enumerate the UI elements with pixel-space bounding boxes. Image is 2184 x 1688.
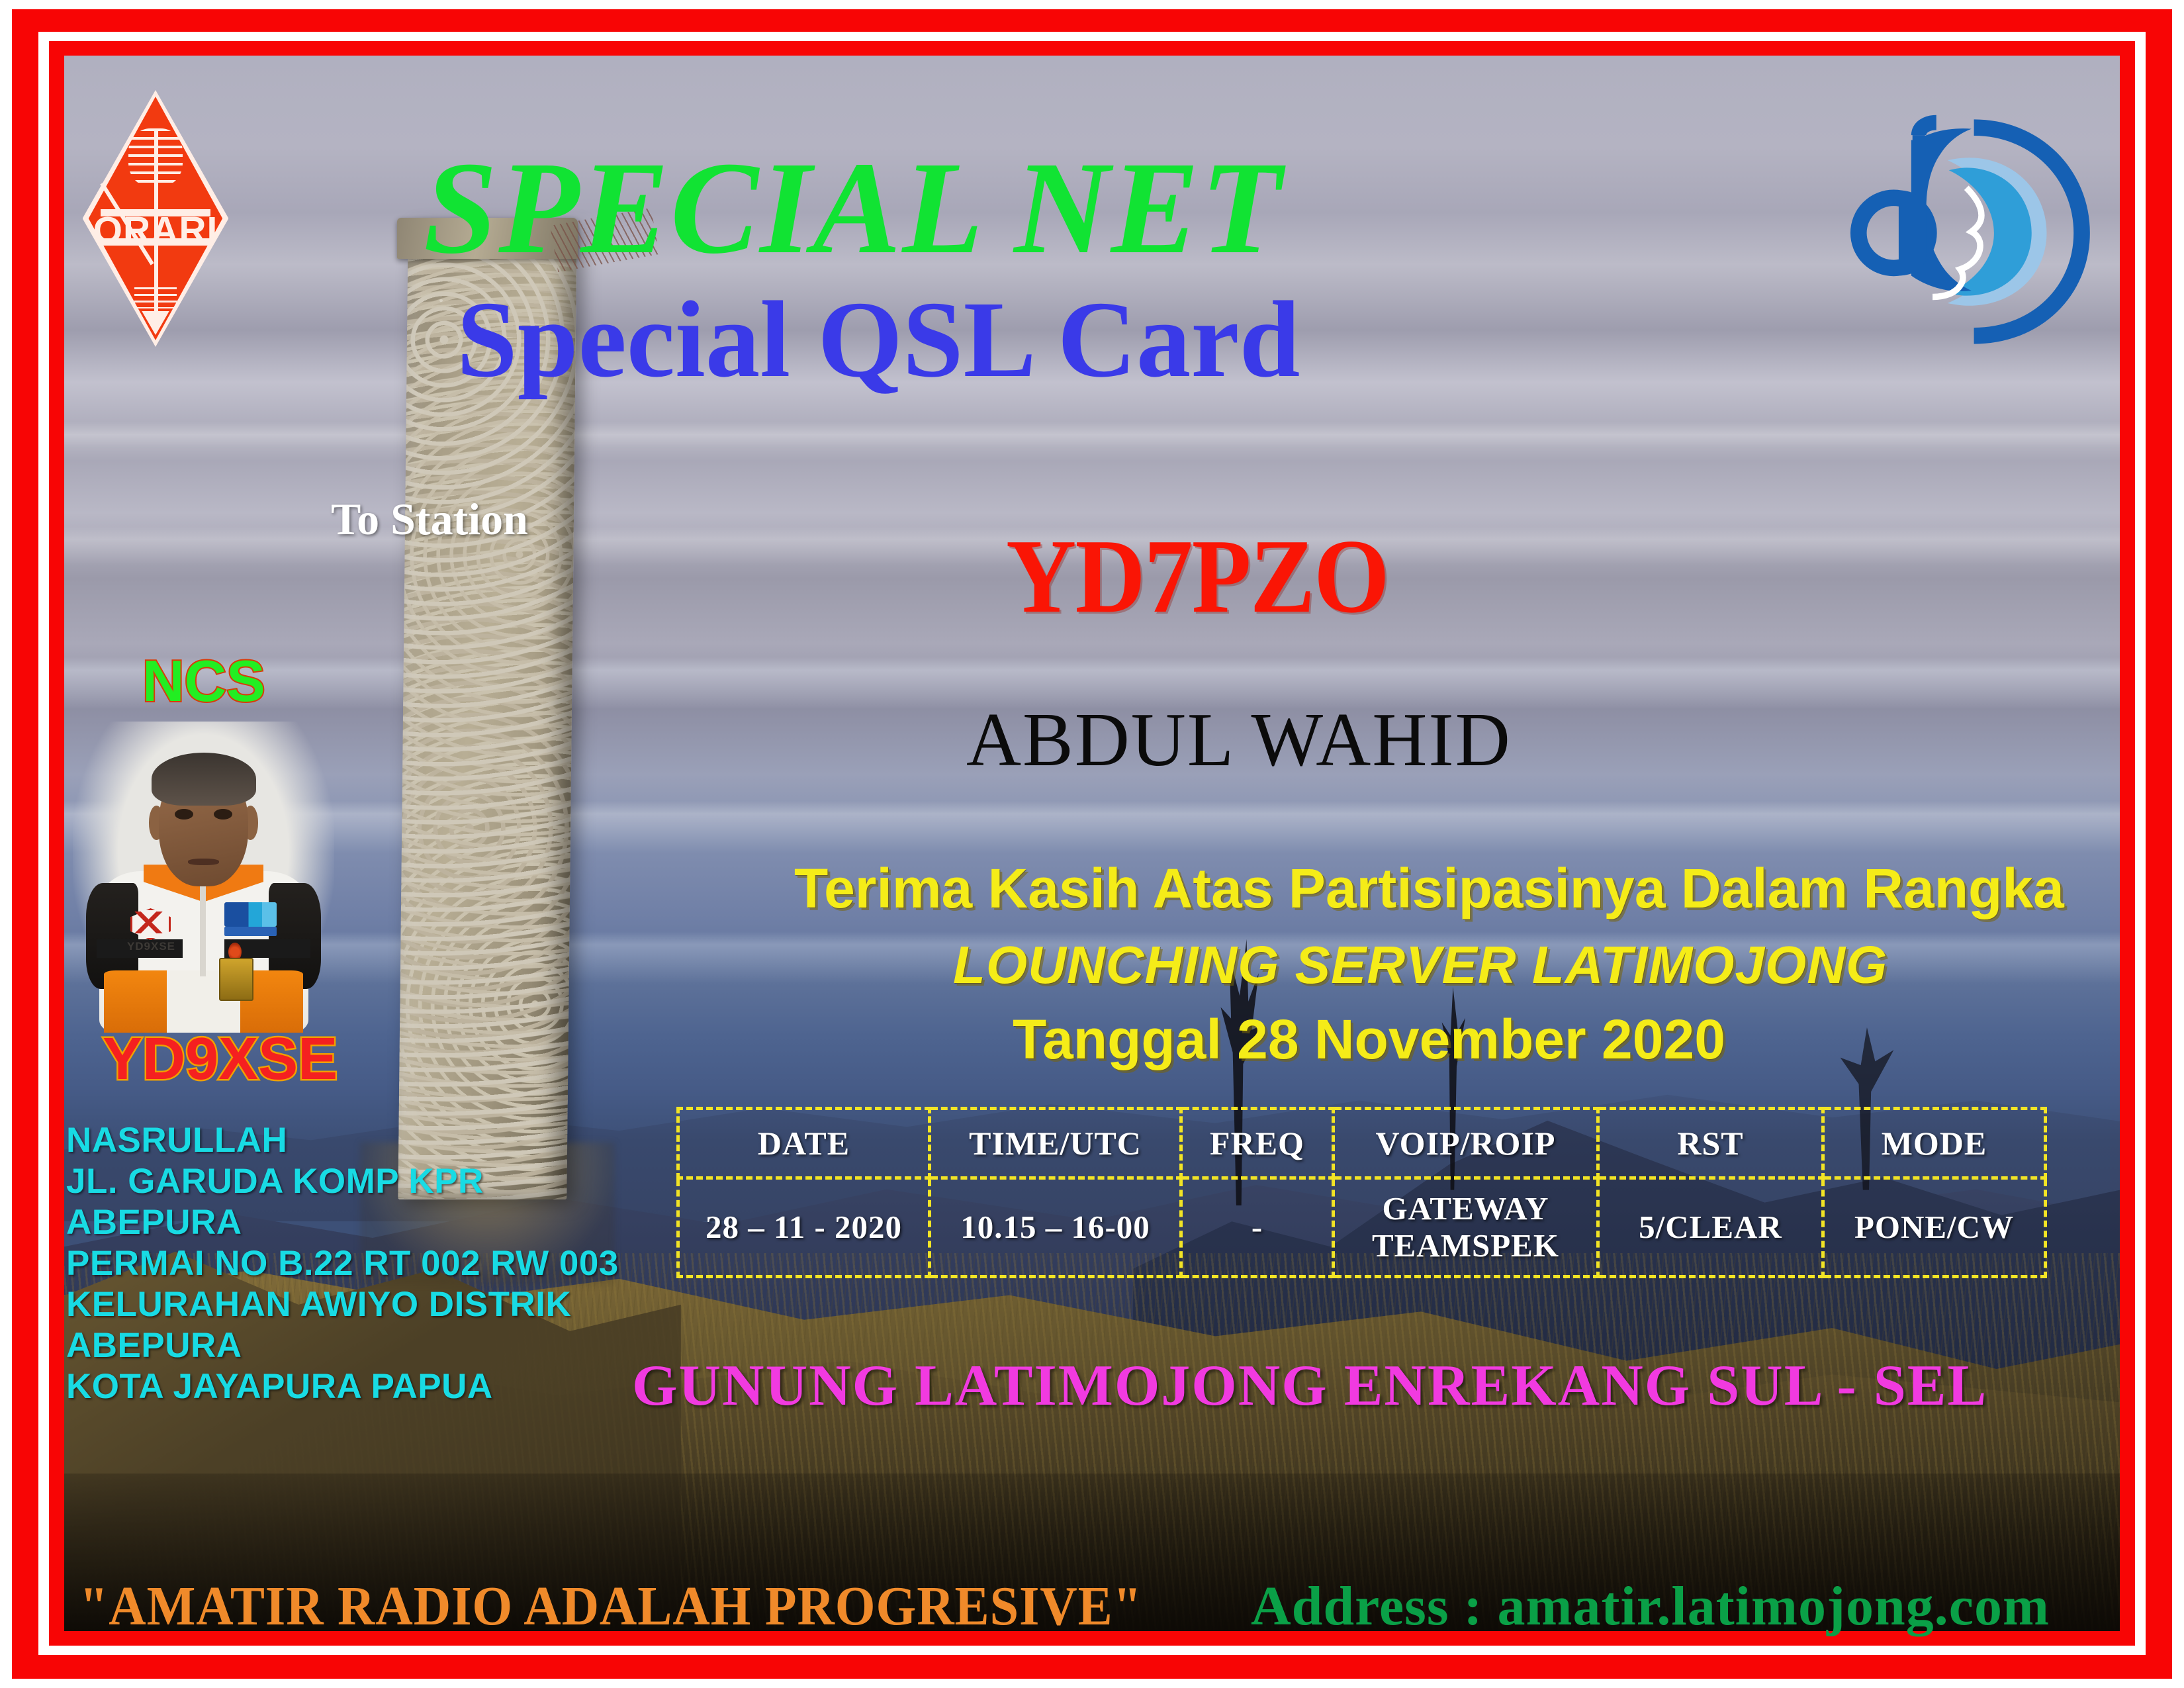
table-header-row: DATE TIME/UTC FREQ VOIP/ROIP RST MODE	[678, 1109, 2046, 1178]
operator-hair	[152, 753, 256, 806]
id-badge	[219, 958, 253, 1001]
column-header-rst: RST	[1598, 1109, 1823, 1178]
to-station-label: To Station	[331, 496, 528, 541]
qsl-card: ORARI SPECIAL NET Special QSL Card To St…	[0, 0, 2184, 1688]
column-header-time: TIME/UTC	[930, 1109, 1181, 1178]
cell-mode: PONE/CW	[1823, 1178, 2046, 1277]
cell-date: 28 – 11 - 2020	[678, 1178, 930, 1277]
orari-coil-icon	[128, 128, 183, 187]
thanks-line-1: Terima Kasih Atas Partisipasinya Dalam R…	[794, 861, 2064, 916]
shirt-callsign-text: YD9XSE	[117, 941, 185, 952]
recipient-callsign: YD7PZO	[1006, 523, 1388, 629]
column-header-mode: MODE	[1823, 1109, 2046, 1178]
website-address: Address : amatir.latimojong.com	[1251, 1579, 2050, 1634]
address-line: ABEPURA	[66, 1325, 662, 1366]
address-line: PERMAI NO B.22 RT 002 RW 003	[66, 1243, 662, 1284]
eye-right	[214, 809, 232, 820]
cell-voip: GATEWAYTEAMSPEK	[1334, 1178, 1598, 1277]
shirt-chest-logo-bar	[224, 927, 277, 936]
shirt-patch-cross-icon	[133, 912, 164, 933]
address-line: NASRULLAH	[66, 1120, 662, 1161]
thanks-line-2: LOUNCHING SERVER LATIMOJONG	[953, 939, 1888, 992]
address-line: KOTA JAYAPURA PAPUA	[66, 1366, 662, 1407]
mouth	[188, 859, 219, 865]
address-line: JL. GARUDA KOMP KPR	[66, 1161, 662, 1202]
qso-details-table: DATE TIME/UTC FREQ VOIP/ROIP RST MODE 28…	[676, 1107, 2047, 1278]
orari-logo: ORARI	[79, 86, 232, 351]
orari-ground-icon	[134, 287, 177, 308]
cell-time: 10.15 – 16-00	[930, 1178, 1181, 1277]
recipient-name: ABDUL WAHID	[966, 702, 1512, 778]
shirt-placket	[200, 883, 206, 976]
thanks-line-3: Tanggal 28 November 2020	[1013, 1011, 1725, 1067]
page-subtitle: Special QSL Card	[457, 285, 1300, 394]
eye-left	[175, 809, 193, 820]
address-line: ABEPURA	[66, 1202, 662, 1243]
page-title: SPECIAL NET	[424, 142, 1283, 275]
slogan-text: "AMATIR RADIO ADALAH PROGRESIVE"	[79, 1579, 1142, 1634]
column-header-date: DATE	[678, 1109, 930, 1178]
orari-wordmark: ORARI	[79, 212, 232, 250]
address-line: KELURAHAN AWIYO DISTRIK	[66, 1284, 662, 1325]
ncs-operator-photo: YD9XSE	[73, 722, 334, 1033]
cell-rst: 5/CLEAR	[1598, 1178, 1823, 1277]
column-header-voip: VOIP/ROIP	[1334, 1109, 1598, 1178]
location-caption: GUNUNG LATIMOJONG ENREKANG SUL - SEL	[632, 1357, 1987, 1415]
shirt-chest-logo	[224, 902, 277, 927]
ncs-callsign: YD9XSE	[103, 1029, 338, 1089]
ncs-label: NCS	[142, 652, 265, 710]
headset-radio-waves-logo	[1840, 113, 2098, 351]
column-header-freq: FREQ	[1181, 1109, 1334, 1178]
cell-freq: -	[1181, 1178, 1334, 1277]
table-row: 28 – 11 - 2020 10.15 – 16-00 - GATEWAYTE…	[678, 1178, 2046, 1277]
sender-address-block: NASRULLAH JL. GARUDA KOMP KPR ABEPURA PE…	[66, 1120, 662, 1407]
